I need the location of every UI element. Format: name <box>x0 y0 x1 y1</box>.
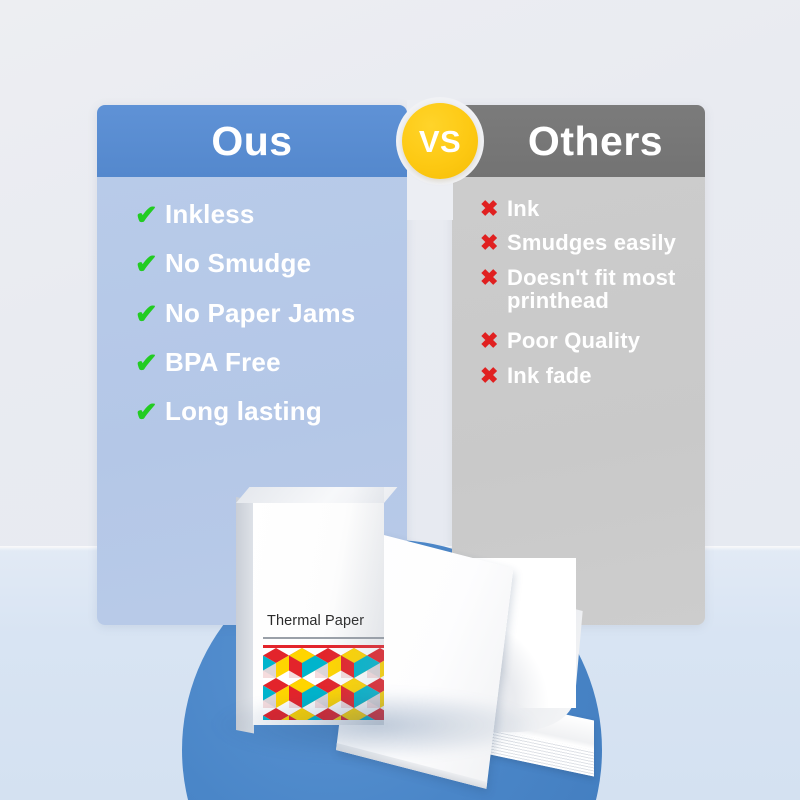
vs-label: VS <box>419 126 461 157</box>
list-item: ✔ No Paper Jams <box>135 300 407 328</box>
box-divider-line <box>263 637 384 639</box>
feature-label: Poor Quality <box>507 329 640 352</box>
ours-title: Ous <box>211 121 292 162</box>
feature-label: Ink <box>507 197 539 220</box>
list-item: ✔ BPA Free <box>135 349 407 377</box>
box-top-face <box>236 487 397 503</box>
list-item: ✖ Poor Quality <box>480 329 705 352</box>
box-side-face <box>236 497 254 733</box>
feature-label: No Smudge <box>165 250 311 278</box>
list-item: ✔ Long lasting <box>135 398 407 426</box>
feature-label: Ink fade <box>507 364 592 387</box>
check-icon: ✔ <box>135 349 165 377</box>
cross-icon: ✖ <box>480 231 507 254</box>
feature-label: Smudges easily <box>507 231 676 254</box>
list-item: ✖ Doesn't fit most printhead <box>480 266 705 313</box>
cross-icon: ✖ <box>480 364 507 387</box>
ours-header: Ous <box>97 105 407 177</box>
list-item: ✖ Ink <box>480 197 705 220</box>
product-ground-shadow <box>210 690 540 760</box>
check-icon: ✔ <box>135 398 165 426</box>
vs-badge: VS <box>402 103 478 179</box>
list-item: ✖ Ink fade <box>480 364 705 387</box>
others-feature-list: ✖ Ink ✖ Smudges easily ✖ Doesn't fit mos… <box>452 177 705 387</box>
feature-label: No Paper Jams <box>165 300 355 328</box>
infographic-stage: Ous ✔ Inkless ✔ No Smudge ✔ No Paper Jam… <box>0 0 800 800</box>
cross-icon: ✖ <box>480 197 507 220</box>
feature-label: BPA Free <box>165 349 281 377</box>
box-product-label: Thermal Paper <box>267 613 384 629</box>
ours-feature-list: ✔ Inkless ✔ No Smudge ✔ No Paper Jams ✔ … <box>97 177 407 427</box>
others-header: Others <box>452 105 705 177</box>
check-icon: ✔ <box>135 300 165 328</box>
feature-label: Inkless <box>165 201 255 229</box>
feature-label: Doesn't fit most printhead <box>507 266 697 313</box>
feature-label: Long lasting <box>165 398 322 426</box>
list-item: ✖ Smudges easily <box>480 231 705 254</box>
check-icon: ✔ <box>135 201 165 229</box>
check-icon: ✔ <box>135 250 165 278</box>
list-item: ✔ No Smudge <box>135 250 407 278</box>
cross-icon: ✖ <box>480 266 507 289</box>
cross-icon: ✖ <box>480 329 507 352</box>
others-title: Others <box>494 121 663 162</box>
list-item: ✔ Inkless <box>135 201 407 229</box>
